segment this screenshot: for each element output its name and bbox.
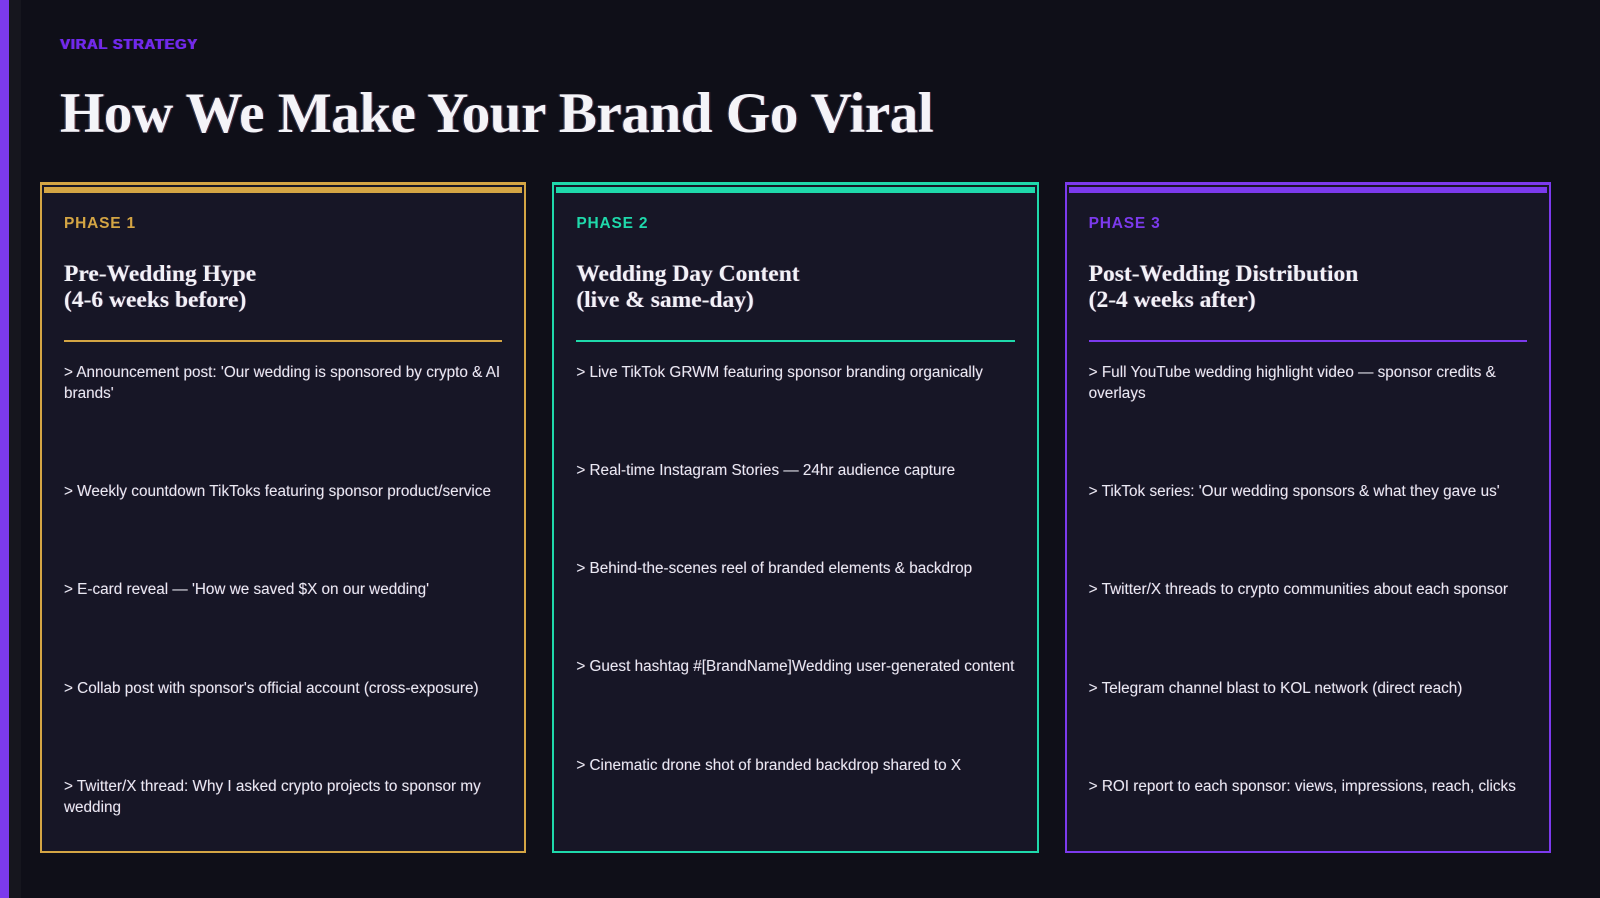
phase-label: PHASE 3 (1089, 216, 1527, 232)
phase-item: > Twitter/X thread: Why I asked crypto p… (64, 776, 502, 818)
phase-item: > Guest hashtag #[BrandName]Wedding user… (576, 656, 1014, 677)
phase-item: > Telegram channel blast to KOL network … (1089, 678, 1527, 699)
phase-divider (64, 340, 502, 342)
phase-item: > E-card reveal — 'How we saved $X on ou… (64, 579, 502, 600)
phase-card-2: PHASE 2Wedding Day Content (live & same-… (552, 182, 1038, 853)
phase-card-3: PHASE 3Post-Wedding Distribution (2-4 we… (1065, 182, 1551, 853)
rail-gutter (9, 0, 21, 898)
phase-item: > Real-time Instagram Stories — 24hr aud… (576, 460, 1014, 481)
slide-header: VIRAL STRATEGY How We Make Your Brand Go… (60, 38, 1460, 142)
phase-item: > Live TikTok GRWM featuring sponsor bra… (576, 362, 1014, 383)
phase-title: Post-Wedding Distribution (2-4 weeks aft… (1089, 261, 1527, 315)
phase-item: > Full YouTube wedding highlight video —… (1089, 362, 1527, 404)
phase-divider (1089, 340, 1527, 342)
eyebrow-label: VIRAL STRATEGY (60, 38, 1460, 53)
phase-item: > TikTok series: 'Our wedding sponsors &… (1089, 481, 1527, 502)
phase-label: PHASE 1 (64, 216, 502, 232)
phase-title: Pre-Wedding Hype (4-6 weeks before) (64, 261, 502, 315)
phase-item: > Cinematic drone shot of branded backdr… (576, 755, 1014, 776)
phase-label: PHASE 2 (576, 216, 1014, 232)
phase-item: > Announcement post: 'Our wedding is spo… (64, 362, 502, 404)
phase-item: > Twitter/X threads to crypto communitie… (1089, 579, 1527, 600)
phase-item-list: > Announcement post: 'Our wedding is spo… (64, 362, 502, 818)
phase-item: > ROI report to each sponsor: views, imp… (1089, 776, 1527, 797)
page-title: How We Make Your Brand Go Viral (60, 85, 1460, 142)
phase-divider (576, 340, 1014, 342)
phase-item: > Collab post with sponsor's official ac… (64, 678, 502, 699)
phase-cards-row: PHASE 1Pre-Wedding Hype (4-6 weeks befor… (40, 182, 1551, 853)
phase-card-body: PHASE 3Post-Wedding Distribution (2-4 we… (1069, 189, 1547, 849)
phase-card-body: PHASE 1Pre-Wedding Hype (4-6 weeks befor… (44, 189, 522, 849)
phase-item-list: > Live TikTok GRWM featuring sponsor bra… (576, 362, 1014, 776)
slide-stage: VIRAL STRATEGY How We Make Your Brand Go… (21, 0, 1600, 898)
phase-card-1: PHASE 1Pre-Wedding Hype (4-6 weeks befor… (40, 182, 526, 853)
phase-item: > Behind-the-scenes reel of branded elem… (576, 558, 1014, 579)
phase-item-list: > Full YouTube wedding highlight video —… (1089, 362, 1527, 797)
phase-card-body: PHASE 2Wedding Day Content (live & same-… (556, 189, 1034, 849)
phase-item: > Weekly countdown TikToks featuring spo… (64, 481, 502, 502)
left-accent-rail (0, 0, 9, 898)
phase-title: Wedding Day Content (live & same-day) (576, 261, 1014, 315)
